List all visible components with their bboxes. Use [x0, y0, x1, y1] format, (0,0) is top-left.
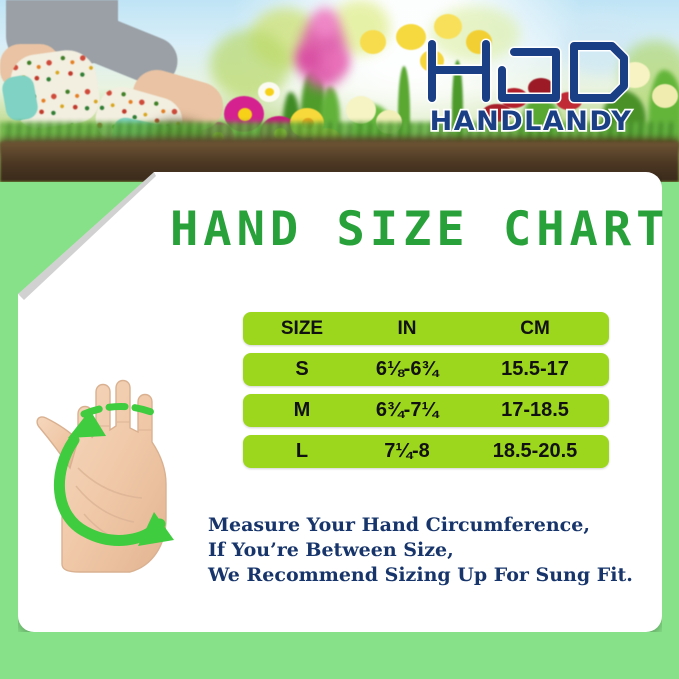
header-in: IN [347, 312, 467, 345]
primrose-flower [346, 96, 376, 124]
cell-in: 6⅛-6¾ [347, 353, 467, 386]
header-size: SIZE [257, 312, 347, 345]
cell-in: 6¾-7¼ [347, 394, 467, 427]
primrose-flower [652, 84, 678, 108]
cell-cm: 17-18.5 [467, 394, 603, 427]
note-line-1: Measure Your Hand Circumference, [208, 513, 638, 538]
cell-in: 7¼-8 [347, 435, 467, 468]
hyacinth-flower [312, 8, 338, 38]
sizing-note: Measure Your Hand Circumference, If You’… [208, 513, 638, 588]
table-header-row: SIZE IN CM [243, 312, 609, 345]
cell-size: M [257, 394, 347, 427]
page-title: HAND SIZE CHART [170, 203, 648, 257]
cell-size: S [257, 353, 347, 386]
table-row: M 6¾-7¼ 17-18.5 [243, 394, 609, 427]
header-cm: CM [467, 312, 603, 345]
handlandy-logo: HANDLANDY [424, 36, 638, 136]
note-line-2: If You’re Between Size, [208, 538, 638, 563]
table-row: L 7¼-8 18.5-20.5 [243, 435, 609, 468]
hyacinth-flower [296, 46, 320, 72]
daffodil-flower [360, 30, 386, 54]
hand-illustration [34, 318, 219, 588]
logo-wordmark: HANDLANDY [430, 106, 633, 136]
size-table: SIZE IN CM S 6⅛-6¾ 15.5-17 M 6¾-7¼ 17-18… [243, 312, 609, 476]
cell-cm: 18.5-20.5 [467, 435, 603, 468]
cell-size: L [257, 435, 347, 468]
cell-cm: 15.5-17 [467, 353, 603, 386]
hyacinth-flower [326, 50, 348, 74]
flower-center [238, 108, 252, 121]
daffodil-flower [396, 24, 426, 50]
flower-center [265, 88, 274, 96]
hand-size-chart-page: HANDLANDY HANDLANDY HAND SIZE CHART [0, 0, 679, 679]
note-line-3: We Recommend Sizing Up For Sung Fit. [208, 563, 638, 588]
table-row: S 6⅛-6¾ 15.5-17 [243, 353, 609, 386]
